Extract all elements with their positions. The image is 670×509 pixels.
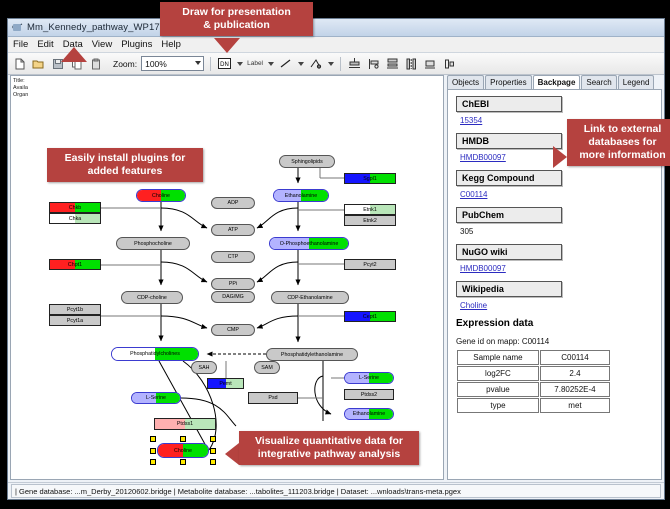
- callout-visualize-line1: Visualize quantitative data for: [247, 435, 411, 448]
- db-header-chebi: ChEBI: [456, 96, 562, 112]
- menu-plugins[interactable]: Plugins: [121, 39, 152, 50]
- callout-plugins-line1: Easily install plugins for: [55, 152, 195, 165]
- node-label: CDP-choline: [137, 295, 167, 301]
- db-link-kegg[interactable]: C00114: [460, 190, 653, 199]
- callout-link-line2: databases for: [575, 136, 670, 149]
- group-icon[interactable]: [442, 56, 457, 71]
- line-dropdown-icon[interactable]: [298, 62, 304, 66]
- expression-data-heading: Expression data: [456, 318, 653, 329]
- callout-plugins-arrow-up: [61, 47, 87, 62]
- expr-key-sample-name: Sample name: [457, 350, 539, 365]
- callout-plugins-line2: added features: [55, 165, 195, 178]
- pathway-node-ptdss2[interactable]: Ptdss2: [344, 389, 394, 400]
- pathway-node-etnk1[interactable]: Etnk1: [344, 204, 396, 215]
- callout-plugins: Easily install plugins for added feature…: [47, 148, 203, 182]
- node-label: Etnk1: [363, 207, 377, 213]
- tab-properties[interactable]: Properties: [485, 75, 531, 89]
- pathway-node-ppi[interactable]: PPi: [211, 278, 255, 290]
- callout-draw: Draw for presentation & publication: [160, 2, 313, 36]
- callout-visualize-arrow-left: [225, 443, 239, 465]
- db-header-nugo: NuGO wiki: [456, 244, 562, 260]
- pathway-node-pcyt1a[interactable]: Pcyt1a: [49, 315, 101, 326]
- label-dropdown-icon[interactable]: [268, 62, 274, 66]
- tab-backpage[interactable]: Backpage: [533, 75, 581, 89]
- node-label: Pcyt2: [363, 262, 376, 268]
- pathway-node-cept1[interactable]: Cept1: [344, 311, 396, 322]
- callout-link: Link to external databases for more info…: [567, 119, 670, 166]
- pathway-node-pcyt2[interactable]: Pcyt2: [344, 259, 396, 270]
- pathway-node-cdpethanolamine[interactable]: CDP-Ethanolamine: [271, 291, 349, 304]
- pathway-node-pemt[interactable]: Pemt: [207, 378, 244, 389]
- node-label: Ethanolamine: [353, 411, 385, 417]
- node-label: Ptdss2: [361, 392, 377, 398]
- pathway-node-atp[interactable]: ATP: [211, 224, 255, 236]
- node-label: PPi: [229, 281, 237, 287]
- pathway-node-choline_top[interactable]: Choline: [136, 189, 186, 202]
- menu-file[interactable]: File: [13, 39, 28, 50]
- pathway-node-chka[interactable]: Chka: [49, 213, 101, 224]
- expr-val-type: met: [540, 398, 610, 413]
- node-label: Chpt1: [68, 262, 82, 268]
- menu-help[interactable]: Help: [161, 39, 181, 50]
- pathway-node-adp[interactable]: ADP: [211, 197, 255, 209]
- pathway-node-sgpl1[interactable]: Sgpl1: [344, 173, 396, 184]
- datanode-dropdown-icon[interactable]: [237, 62, 243, 66]
- db-link-wikipedia[interactable]: Choline: [460, 301, 653, 310]
- table-row: Sample name C00114: [457, 350, 610, 365]
- node-label: Phosphatidylcholines: [130, 351, 180, 357]
- screenshot-root: Mm_Kennedy_pathway_WP1771_45176.gpml Fil…: [0, 0, 670, 509]
- node-label: Choline: [174, 448, 192, 454]
- datanode-icon[interactable]: DN: [217, 56, 232, 71]
- align-bottom-icon[interactable]: [385, 56, 400, 71]
- node-label: CDP-Ethanolamine: [287, 295, 332, 301]
- pathway-node-phosphatidylcholines[interactable]: Phosphatidylcholines: [111, 347, 199, 361]
- shape-dropdown-icon[interactable]: [328, 62, 334, 66]
- application-window: Mm_Kennedy_pathway_WP1771_45176.gpml Fil…: [7, 18, 665, 500]
- gene-id-line: Gene id on mapp: C00114: [456, 337, 653, 346]
- node-label: SAH: [199, 365, 210, 371]
- callout-link-arrow-left: [553, 146, 567, 168]
- menu-bar: File Edit Data View Plugins Help: [8, 37, 664, 53]
- toolbar-separator-2: [340, 57, 341, 71]
- callout-draw-line2: & publication: [168, 19, 305, 32]
- node-label: ADP: [228, 200, 239, 206]
- pathway-canvas[interactable]: Title: Availa Organ: [10, 75, 444, 480]
- node-label: SAM: [261, 365, 272, 371]
- distribute-icon[interactable]: [404, 56, 419, 71]
- side-panel-tabs: Objects Properties Backpage Search Legen…: [447, 75, 662, 90]
- pathway-node-ophosphoethanolamine[interactable]: O-Phosphoethanolamine: [269, 237, 349, 250]
- node-label: Ptdss1: [177, 421, 193, 427]
- node-label: Ethanolamine: [285, 193, 317, 199]
- pathway-node-sah[interactable]: SAH: [191, 361, 217, 374]
- menu-view[interactable]: View: [92, 39, 112, 50]
- node-label: Pcyt1b: [67, 307, 83, 313]
- tab-search[interactable]: Search: [581, 75, 616, 89]
- callout-visualize: Visualize quantitative data for integrat…: [239, 431, 419, 465]
- pathway-node-sam[interactable]: SAM: [254, 361, 280, 374]
- db-header-wikipedia: Wikipedia: [456, 281, 562, 297]
- pathway-node-psd[interactable]: Psd: [248, 392, 298, 404]
- callout-link-line1: Link to external: [575, 123, 670, 136]
- node-label: Chkb: [69, 205, 81, 211]
- db-header-pubchem: PubChem: [456, 207, 562, 223]
- expr-val-sample-name: C00114: [540, 350, 610, 365]
- zoom-value: 100%: [145, 59, 167, 69]
- new-document-icon[interactable]: [12, 56, 27, 71]
- open-folder-icon[interactable]: [31, 56, 46, 71]
- title-bar: Mm_Kennedy_pathway_WP1771_45176.gpml: [8, 19, 664, 37]
- node-label: Sgpl1: [363, 176, 377, 182]
- menu-edit[interactable]: Edit: [37, 39, 53, 50]
- pathway-node-cdpcholine[interactable]: CDP-choline: [121, 291, 183, 304]
- node-label: CMP: [227, 327, 239, 333]
- pathway-node-chpt1[interactable]: Chpt1: [49, 259, 101, 270]
- expr-val-pvalue: 7.80252E-4: [540, 382, 610, 397]
- node-label: Cept1: [363, 314, 377, 320]
- node-label: L-Serine: [146, 395, 166, 401]
- toolbar: Zoom: 100% DN Label: [8, 53, 664, 75]
- main-area: Title: Availa Organ: [8, 73, 664, 482]
- callout-visualize-line2: integrative pathway analysis: [247, 448, 411, 461]
- db-header-kegg: Kegg Compound: [456, 170, 562, 186]
- node-label: Psd: [268, 395, 277, 401]
- pathway-node-dagmg[interactable]: DAG/MG: [211, 291, 255, 303]
- pathway-node-pcyt1b[interactable]: Pcyt1b: [49, 304, 101, 315]
- expression-table: Sample name C00114 log2FC 2.4 pvalue 7.8…: [456, 349, 611, 414]
- table-row: pvalue 7.80252E-4: [457, 382, 610, 397]
- pathway-node-chkb[interactable]: Chkb: [49, 202, 101, 213]
- pathway-node-phosphocholine[interactable]: Phosphocholine: [116, 237, 190, 250]
- pathway-node-lserine_right[interactable]: L-Serine: [344, 372, 394, 384]
- align-left-icon[interactable]: [366, 56, 381, 71]
- tab-objects[interactable]: Objects: [447, 75, 484, 89]
- label-tool-text[interactable]: Label: [247, 60, 263, 67]
- node-label: Etnk2: [363, 218, 377, 224]
- node-label: O-Phosphoethanolamine: [280, 241, 339, 247]
- pathway-node-cmp[interactable]: CMP: [211, 324, 255, 336]
- stack-icon[interactable]: [423, 56, 438, 71]
- table-row: type met: [457, 398, 610, 413]
- line-icon[interactable]: [278, 56, 293, 71]
- zoom-label: Zoom:: [113, 59, 137, 69]
- node-label: Pcyt1a: [67, 318, 83, 324]
- chevron-down-icon[interactable]: [195, 61, 201, 65]
- pathway-node-ethanolamine_right[interactable]: Ethanolamine: [344, 408, 394, 420]
- pathway-node-phosphatidylethanolamine[interactable]: Phosphatidylethanolamine: [266, 348, 358, 361]
- pathway-node-ethanolamine_top[interactable]: Ethanolamine: [273, 189, 329, 202]
- db-header-hmdb: HMDB: [456, 133, 562, 149]
- callout-link-line3: more information: [575, 149, 670, 162]
- db-link-nugo[interactable]: HMDB00097: [460, 264, 653, 273]
- expr-key-log2fc: log2FC: [457, 366, 539, 381]
- status-bar-text: | Gene database: ...m_Derby_20120602.bri…: [11, 484, 661, 498]
- shape-icon[interactable]: [308, 56, 323, 71]
- node-label: Sphingolipids: [291, 159, 323, 165]
- db-value-pubchem: 305: [460, 227, 653, 236]
- pathway-node-ptdss1[interactable]: Ptdss1: [154, 418, 216, 430]
- node-label: ATP: [228, 227, 238, 233]
- align-center-icon[interactable]: [347, 56, 362, 71]
- callout-draw-line1: Draw for presentation: [168, 6, 305, 19]
- pathway-node-ctp[interactable]: CTP: [211, 251, 255, 263]
- pathway-node-lserine_left[interactable]: L-Serine: [131, 392, 181, 404]
- expr-key-type: type: [457, 398, 539, 413]
- toolbar-separator: [210, 57, 211, 71]
- node-label: CTP: [228, 254, 239, 260]
- node-label: L-Serine: [359, 375, 379, 381]
- callout-draw-arrow-down: [214, 38, 240, 53]
- pathway-node-choline_selected[interactable]: Choline: [157, 443, 209, 458]
- svg-text:DN: DN: [220, 62, 229, 68]
- pathway-node-sphingolipids[interactable]: Sphingolipids: [279, 155, 335, 168]
- tab-legend[interactable]: Legend: [618, 75, 655, 89]
- node-label: Chka: [69, 216, 81, 222]
- expr-val-log2fc: 2.4: [540, 366, 610, 381]
- pathway-node-etnk2[interactable]: Etnk2: [344, 215, 396, 226]
- app-icon: [12, 22, 23, 33]
- zoom-combobox[interactable]: 100%: [141, 56, 204, 71]
- status-bar: | Gene database: ...m_Derby_20120602.bri…: [8, 482, 664, 499]
- clipboard-icon[interactable]: [88, 56, 103, 71]
- node-label: Phosphocholine: [134, 241, 172, 247]
- node-label: DAG/MG: [222, 294, 243, 300]
- node-label: Pemt: [219, 381, 231, 387]
- node-label: Phosphatidylethanolamine: [281, 352, 343, 358]
- table-row: log2FC 2.4: [457, 366, 610, 381]
- expr-key-pvalue: pvalue: [457, 382, 539, 397]
- node-label: Choline: [152, 193, 170, 199]
